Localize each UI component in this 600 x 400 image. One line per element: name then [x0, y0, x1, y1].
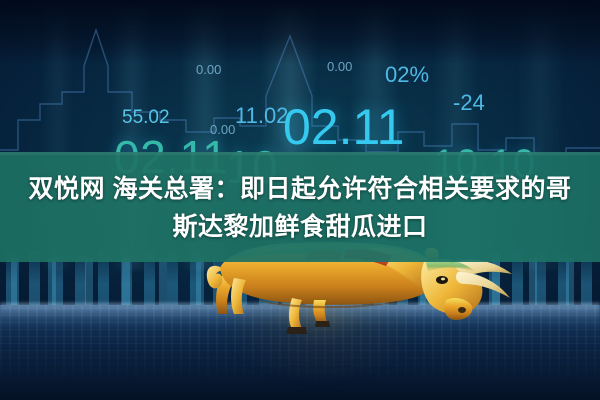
background-number: 0.00 — [327, 59, 352, 74]
headline-line-2: 斯达黎加鲜食甜瓜进口 — [172, 210, 427, 244]
background-number: 0.00 — [196, 62, 221, 77]
banner-image: 0.00 55.02 0.00 11.02 0.00 02% -24 02.11… — [0, 0, 600, 400]
headline-band-edge — [0, 152, 600, 155]
background-number: 02% — [385, 62, 429, 88]
headline-line-1: 双悦网 海关总署：即日起允许符合相关要求的哥 — [29, 172, 572, 206]
background-number: 11.02 — [235, 103, 288, 129]
background-number: 02.11 — [283, 98, 404, 156]
background-number: -24 — [453, 90, 485, 116]
headline-text-block: 双悦网 海关总署：即日起允许符合相关要求的哥 斯达黎加鲜食甜瓜进口 — [0, 156, 600, 260]
background-number: 55.02 — [122, 107, 170, 129]
